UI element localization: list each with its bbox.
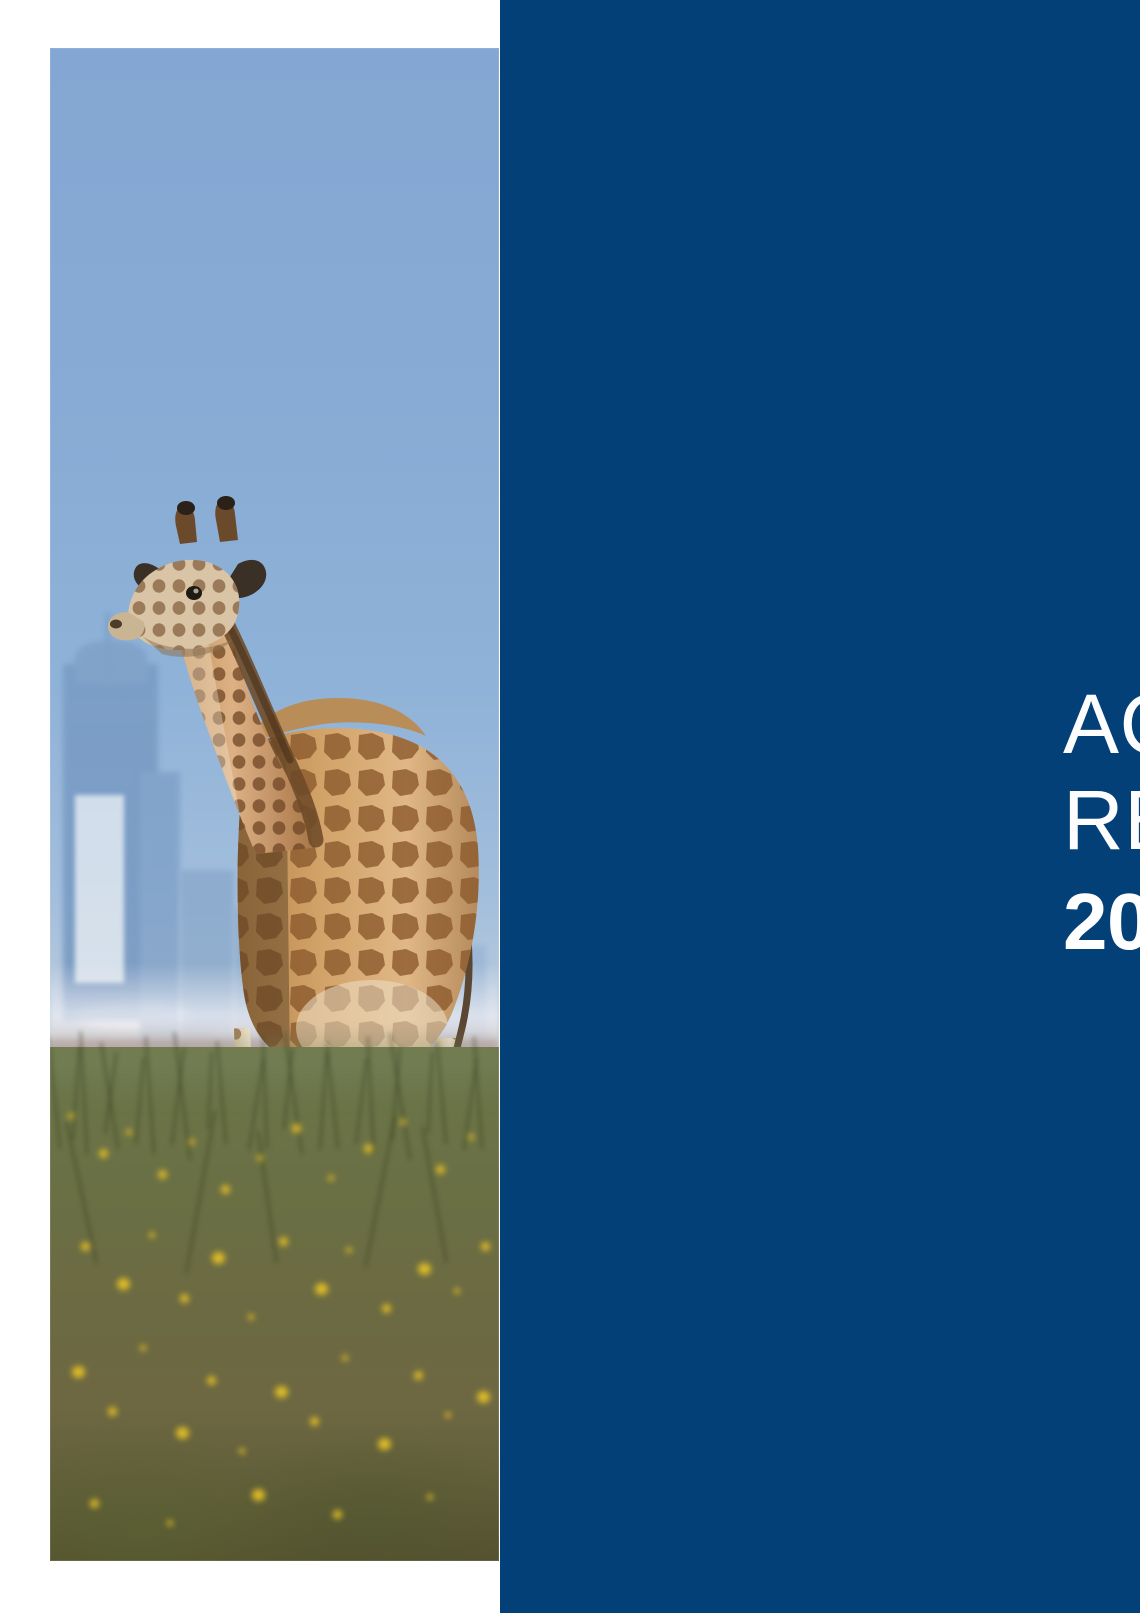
title-panel: ACTIVITY REPORT 2023 <box>500 0 1140 1613</box>
cover-title-block: ACTIVITY REPORT 2023 <box>1063 676 1140 972</box>
title-line-report: REPORT <box>1063 772 1140 868</box>
title-line-activity: ACTIVITY <box>1063 676 1140 772</box>
title-year: 2023 <box>1063 872 1140 972</box>
cover-photo <box>50 48 499 1561</box>
photo-border <box>50 48 499 1561</box>
report-cover-page: ACTIVITY REPORT 2023 <box>0 0 1140 1613</box>
